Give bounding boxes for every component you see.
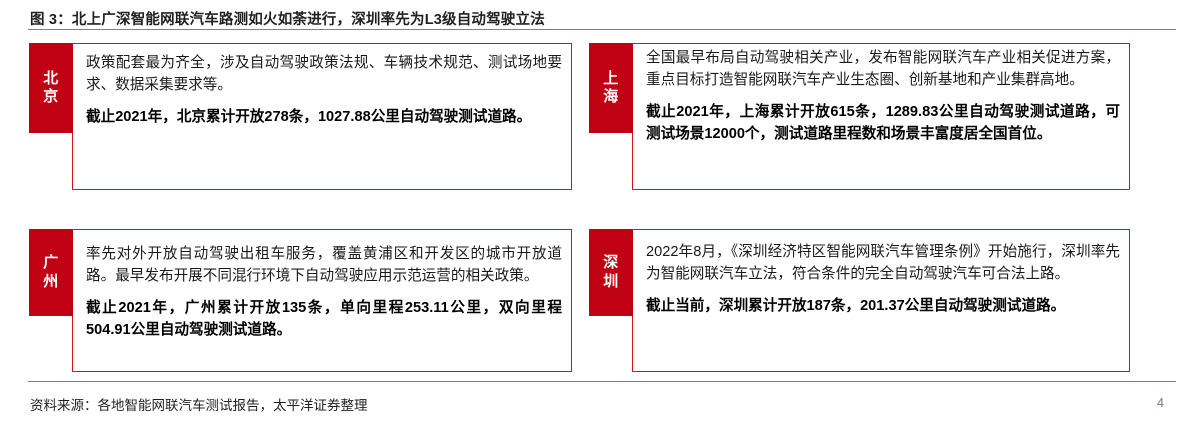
city-card-body-shenzhen: 2022年8月，《深圳经济特区智能网联汽车管理条例》开始施行，深圳率先为智能网联…: [646, 241, 1120, 317]
title-divider: [28, 29, 1176, 30]
page-number: 4: [1157, 396, 1164, 410]
footer-divider: [28, 381, 1176, 382]
city-card-body-guangzhou: 率先对外开放自动驾驶出租车服务，覆盖黄浦区和开发区的城市开放道路。最早发布开展不…: [86, 243, 562, 341]
city-card-body-shanghai: 全国最早布局自动驾驶相关产业，发布智能网联汽车产业相关促进方案，重点目标打造智能…: [646, 47, 1120, 145]
city-description: 率先对外开放自动驾驶出租车服务，覆盖黄浦区和开发区的城市开放道路。最早发布开展不…: [86, 243, 562, 288]
source-note: 资料来源：各地智能网联汽车测试报告，太平洋证券整理: [30, 394, 368, 414]
city-tab-beijing: 北 京: [29, 43, 73, 133]
city-highlight: 截止当前，深圳累计开放187条，201.37公里自动驾驶测试道路。: [646, 295, 1120, 317]
city-tab-guangzhou: 广 州: [29, 229, 73, 316]
city-tab-char-1: 深: [603, 254, 619, 272]
city-tab-char-2: 京: [43, 88, 59, 106]
city-tab-char-2: 海: [603, 88, 619, 106]
city-description: 2022年8月，《深圳经济特区智能网联汽车管理条例》开始施行，深圳率先为智能网联…: [646, 241, 1120, 286]
city-highlight: 截止2021年，北京累计开放278条，1027.88公里自动驾驶测试道路。: [86, 106, 562, 128]
city-description: 全国最早布局自动驾驶相关产业，发布智能网联汽车产业相关促进方案，重点目标打造智能…: [646, 47, 1120, 92]
city-tab-char-1: 北: [43, 70, 59, 88]
city-tab-char-2: 圳: [603, 273, 619, 291]
city-highlight: 截止2021年，上海累计开放615条，1289.83公里自动驾驶测试道路，可测试…: [646, 101, 1120, 146]
city-tab-char-1: 上: [603, 70, 619, 88]
city-tab-shenzhen: 深 圳: [589, 229, 633, 316]
page-title: 图 3：北上广深智能网联汽车路测如火如荼进行，深圳率先为L3级自动驾驶立法: [30, 8, 1180, 29]
city-tab-shanghai: 上 海: [589, 43, 633, 133]
city-highlight: 截止2021年，广州累计开放135条，单向里程253.11公里，双向里程504.…: [86, 297, 562, 342]
city-tab-char-2: 州: [43, 273, 59, 291]
city-description: 政策配套最为齐全，涉及自动驾驶政策法规、车辆技术规范、测试场地要求、数据采集要求…: [86, 52, 562, 97]
city-card-body-beijing: 政策配套最为齐全，涉及自动驾驶政策法规、车辆技术规范、测试场地要求、数据采集要求…: [86, 52, 562, 128]
city-tab-char-1: 广: [43, 254, 59, 272]
figure-page: 图 3：北上广深智能网联汽车路测如火如荼进行，深圳率先为L3级自动驾驶立法 北 …: [0, 0, 1204, 434]
